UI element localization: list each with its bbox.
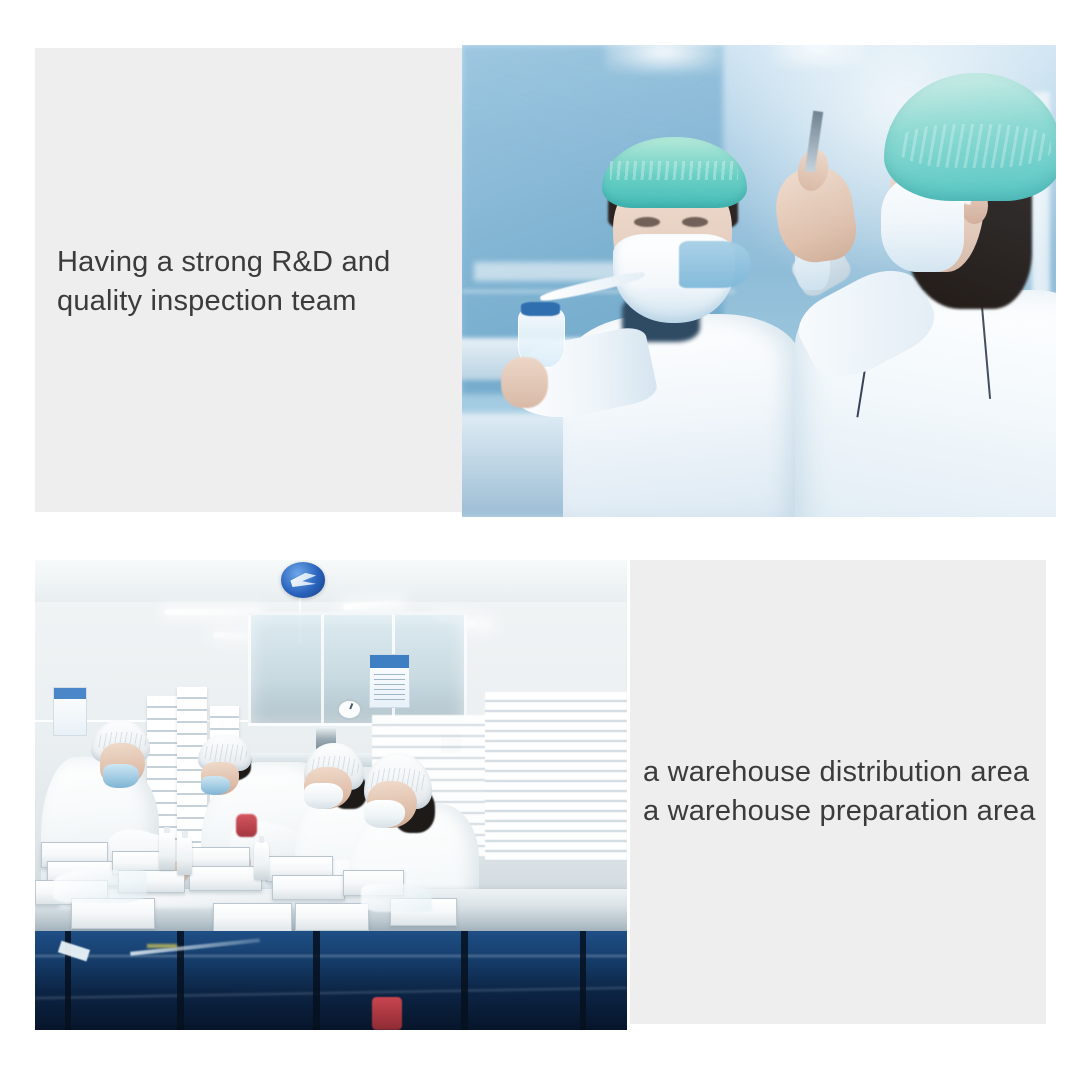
packer-4-face-mask (364, 800, 405, 828)
laboratory-inspection-photo (462, 45, 1056, 517)
table-leg (313, 931, 320, 1030)
carton-box (295, 903, 368, 931)
wall-clock-icon (337, 699, 362, 720)
warehouse-ceiling-light-a (165, 609, 260, 615)
bottom-caption-text: a warehouse distribution area a warehous… (643, 753, 1036, 831)
technician-right-hair-cap (884, 73, 1056, 200)
wall-notice-poster (369, 654, 409, 708)
packer-3-face-mask (304, 783, 342, 809)
page-root: Having a strong R&D and quality inspecti… (0, 0, 1080, 1080)
carton-box (189, 866, 262, 892)
warehouse-packing-photo (35, 560, 627, 1030)
top-caption-line-1: Having a strong R&D and (57, 243, 390, 282)
yellow-floor-marking (147, 944, 177, 948)
company-logo-sign-icon (281, 562, 325, 597)
warehouse-ceiling (35, 560, 627, 602)
work-table-frame (35, 931, 627, 1030)
plastic-wrap-sheet (361, 884, 432, 912)
window-mullion-1 (321, 615, 324, 723)
packer-1-face-mask (103, 764, 139, 788)
top-caption-line-2: quality inspection team (57, 282, 390, 321)
wall-notice-poster-secondary (53, 687, 88, 736)
discarded-paper (58, 941, 90, 961)
packer-2-red-item (236, 814, 257, 838)
top-caption-text: Having a strong R&D and quality inspecti… (57, 243, 390, 321)
lab-ceiling-light-b (771, 45, 866, 69)
table-leg (580, 931, 587, 1030)
product-bottle (254, 842, 269, 880)
carton-box (213, 903, 292, 933)
product-bottle (159, 833, 174, 871)
carton-wall-stack-right (485, 692, 627, 861)
bottom-caption-line-2: a warehouse preparation area (643, 792, 1036, 831)
table-frame-rail-lower (35, 987, 627, 1000)
table-frame-rail-upper (35, 955, 627, 957)
lab-sample-bottle-cap (521, 302, 560, 316)
technician-left-hand (501, 357, 549, 409)
bottom-caption-line-1: a warehouse distribution area (643, 753, 1036, 792)
product-bottle (177, 837, 192, 875)
technician-left-mask-fold (679, 241, 750, 288)
plastic-wrap-sheet (53, 870, 148, 903)
carton-box (272, 875, 345, 901)
packer-4-red-shoe (372, 997, 402, 1030)
table-leg (461, 931, 468, 1030)
lab-ceiling-light-a (605, 45, 724, 73)
